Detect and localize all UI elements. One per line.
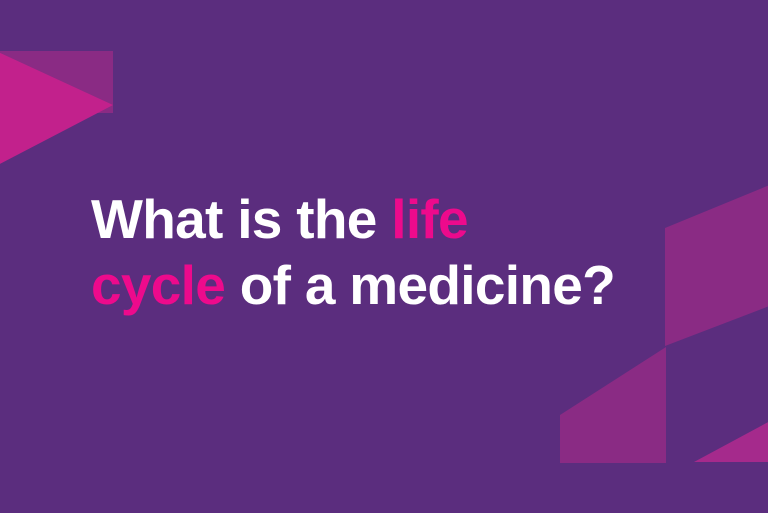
bottom-left-trapezoid: [560, 347, 666, 463]
top-left-magenta-triangle: [0, 51, 113, 166]
slide-canvas: What is the lifecycle of a medicine?: [0, 0, 768, 513]
top-left-overlay-rectangle: [0, 51, 113, 113]
bottom-right-magenta-triangle: [694, 420, 768, 462]
headline-text-white-2: of a medicine?: [225, 254, 615, 316]
headline-line-2: cycle of a medicine?: [91, 252, 711, 318]
headline-text-white-1: What is the: [91, 188, 391, 250]
page-title: What is the lifecycle of a medicine?: [91, 186, 711, 318]
headline-block: What is the lifecycle of a medicine?: [91, 186, 711, 318]
headline-text-accent-cycle: cycle: [91, 254, 225, 316]
headline-text-accent-life: life: [391, 188, 468, 250]
headline-line-1: What is the life: [91, 186, 711, 252]
